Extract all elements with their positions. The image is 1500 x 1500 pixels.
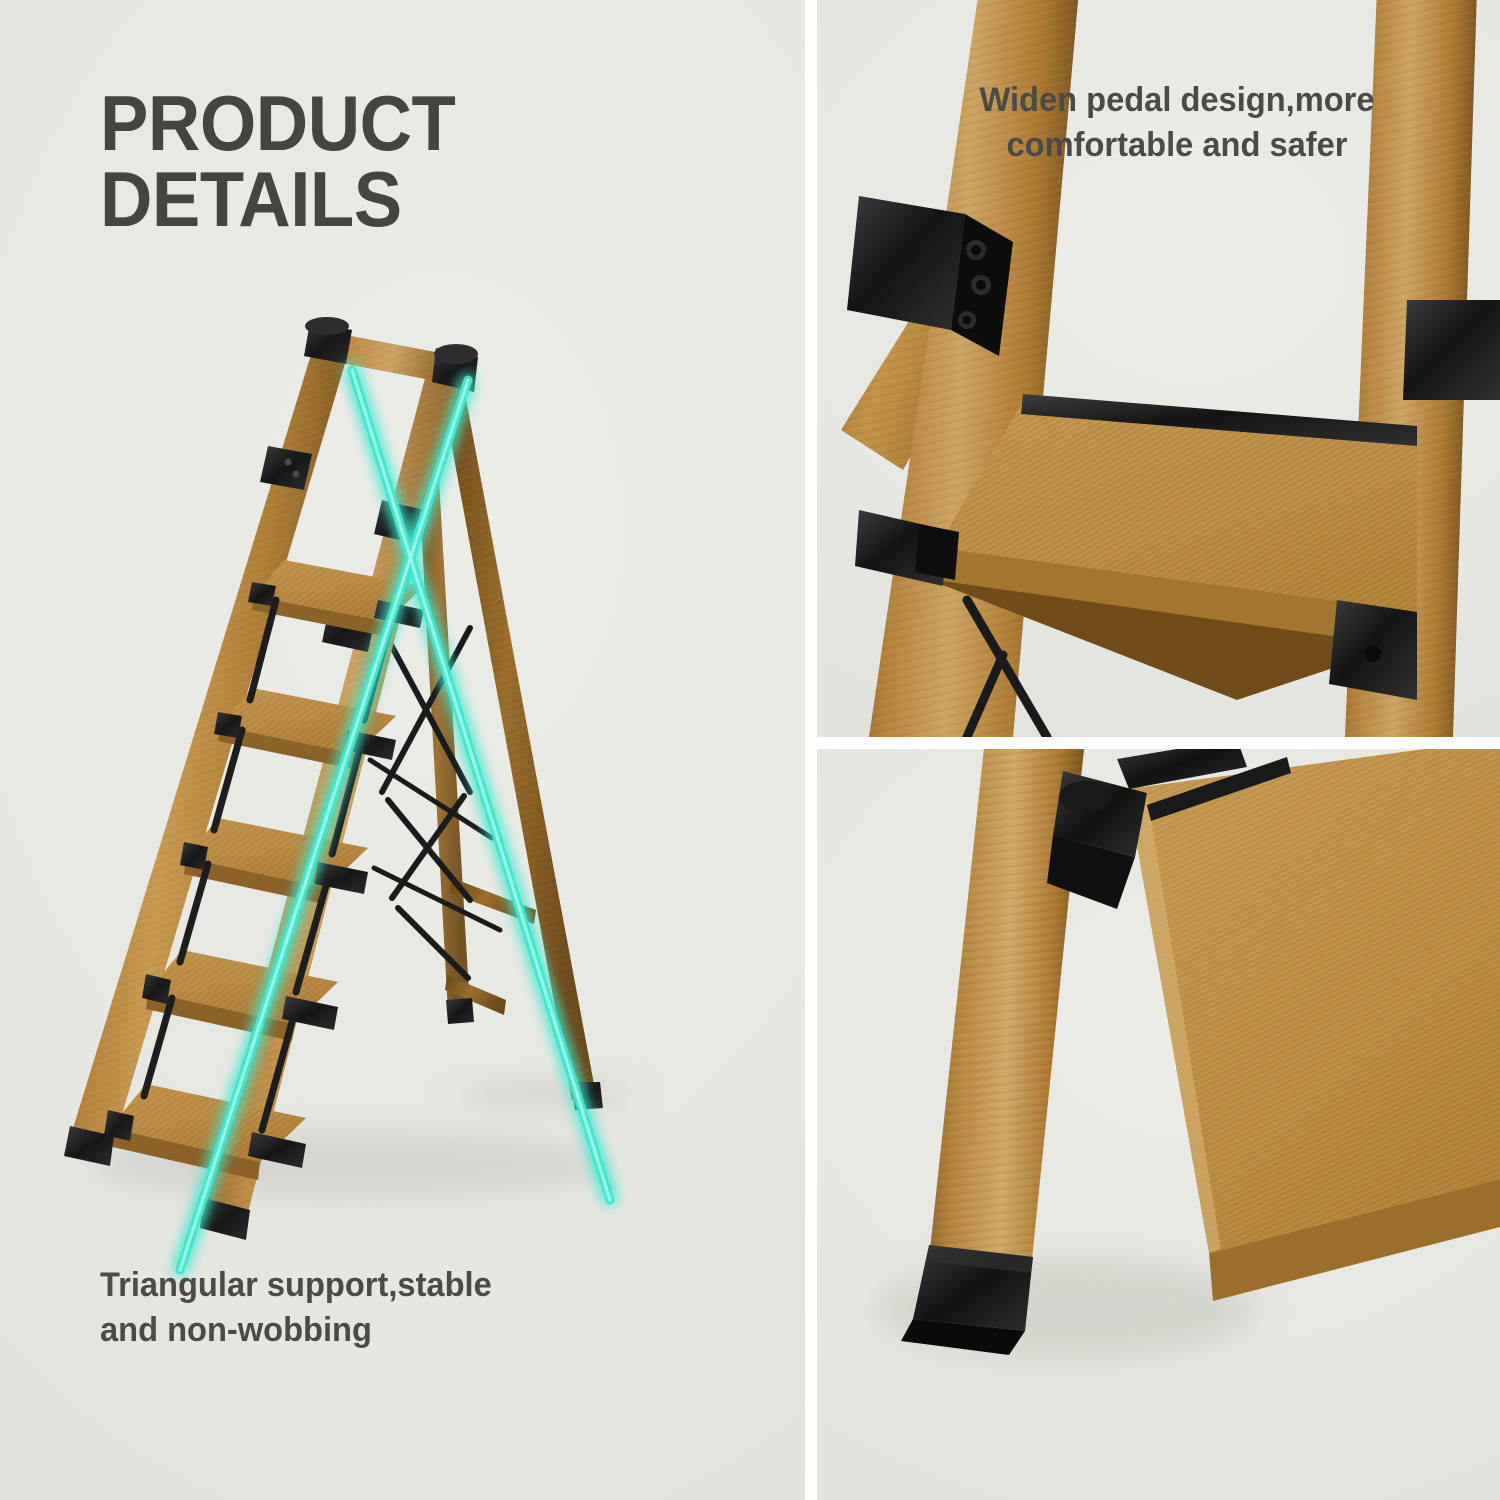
divider-vertical xyxy=(805,0,817,1500)
divider-horizontal xyxy=(817,737,1500,749)
caption-triangular-support: Triangular support,stable and non-wobbin… xyxy=(100,1263,695,1353)
product-detail-infographic: Triangular support,stable and non-wobbin… xyxy=(0,0,1500,1500)
page-title: PRODUCT DETAILS xyxy=(100,86,621,237)
panel-bottom-right-foot-pad: Anti-slip foot pad , fit for multiple gr… xyxy=(817,749,1500,1500)
caption-widen-pedal: Widen pedal design,more comfortable and … xyxy=(889,78,1465,168)
anti-slip-foot-pad-illustration xyxy=(817,749,1500,1500)
panel-top-right-wide-pedal: Widen pedal design,more comfortable and … xyxy=(817,0,1500,737)
